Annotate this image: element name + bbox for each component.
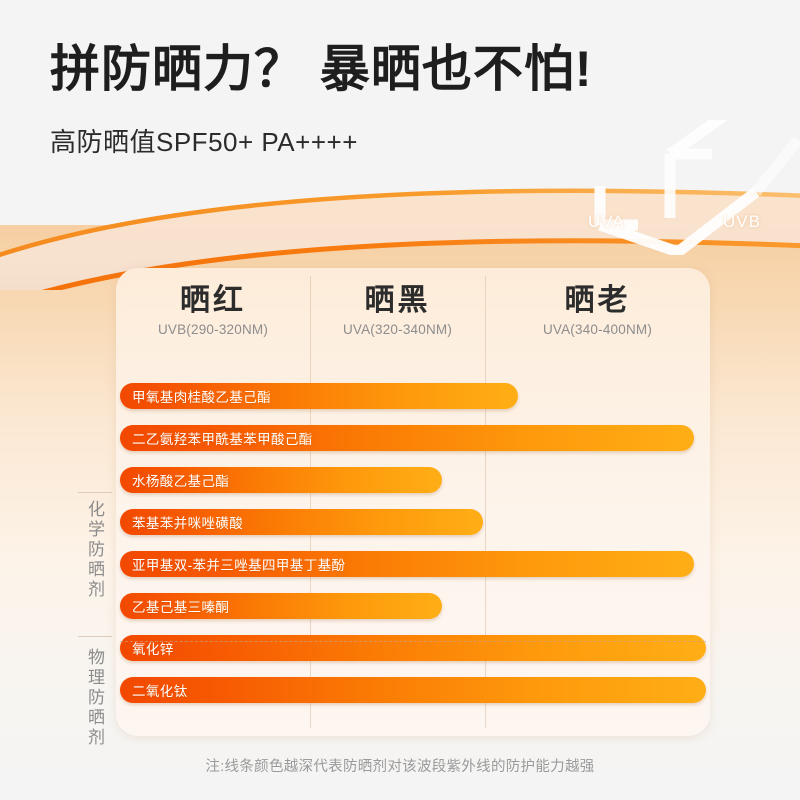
chart-footnote: 注:线条颜色越深代表防晒剂对该波段紫外线的防护能力越强	[0, 755, 800, 776]
bar-label: 二氧化钛	[120, 680, 188, 700]
bar: 二乙氨羟苯甲酰基苯甲酸己酯	[120, 425, 694, 451]
bar: 二氧化钛	[120, 677, 706, 703]
page-title: 拼防晒力？ 暴晒也不怕!	[50, 42, 593, 97]
bar-row: 苯基苯并咪唑磺酸	[120, 509, 706, 551]
side-label-physical: 物理防晒剂	[86, 648, 103, 748]
uv-protection-card: 晒红 UVB(290-320NM) 晒黑 UVA(320-340NM) 晒老 U…	[116, 268, 710, 736]
column-title: 晒老	[485, 282, 710, 320]
side-divider-middle	[78, 636, 112, 637]
column-header-shaihei: 晒黑 UVA(320-340NM)	[310, 282, 485, 337]
bar-row: 亚甲基双-苯并三唑基四甲基丁基酚	[120, 551, 706, 593]
bar-row: 二乙氨羟苯甲酰基苯甲酸己酯	[120, 425, 706, 467]
uv-arrows-icon	[560, 120, 800, 255]
page-subtitle: 高防晒值SPF50+ PA++++	[50, 122, 358, 159]
bar: 甲氧基肉桂酸乙基己酯	[120, 383, 518, 409]
group-separator	[120, 641, 706, 642]
bar-label: 二乙氨羟苯甲酰基苯甲酸己酯	[120, 428, 313, 448]
bar-row: 二氧化钛	[120, 677, 706, 719]
side-divider-top	[78, 492, 112, 493]
bar-row: 甲氧基肉桂酸乙基己酯	[120, 383, 706, 425]
column-headers: 晒红 UVB(290-320NM) 晒黑 UVA(320-340NM) 晒老 U…	[116, 268, 710, 368]
uva-label: UVA	[588, 212, 625, 232]
bar-row: 水杨酸乙基己酯	[120, 467, 706, 509]
column-subtitle: UVA(340-400NM)	[485, 322, 710, 337]
bar: 亚甲基双-苯并三唑基四甲基丁基酚	[120, 551, 694, 577]
column-header-shailao: 晒老 UVA(340-400NM)	[485, 282, 710, 337]
column-header-shaihong: 晒红 UVB(290-320NM)	[116, 282, 310, 337]
bar-label: 甲氧基肉桂酸乙基己酯	[120, 386, 271, 406]
bar: 苯基苯并咪唑磺酸	[120, 509, 483, 535]
bar: 氧化锌	[120, 635, 706, 661]
uv-ray-illustration: UVA UVB	[560, 120, 800, 255]
column-title: 晒红	[116, 282, 310, 320]
column-title: 晒黑	[310, 282, 485, 320]
bar: 水杨酸乙基己酯	[120, 467, 442, 493]
bar-label: 水杨酸乙基己酯	[120, 470, 229, 490]
bar-label: 乙基己基三嗪酮	[120, 596, 229, 616]
bar-chart: 甲氧基肉桂酸乙基己酯二乙氨羟苯甲酰基苯甲酸己酯水杨酸乙基己酯苯基苯并咪唑磺酸亚甲…	[120, 383, 706, 719]
column-subtitle: UVA(320-340NM)	[310, 322, 485, 337]
uvb-label: UVB	[723, 212, 761, 232]
bar: 乙基己基三嗪酮	[120, 593, 442, 619]
column-subtitle: UVB(290-320NM)	[116, 322, 310, 337]
side-label-chemical: 化学防晒剂	[86, 500, 103, 600]
page-stage: 拼防晒力？ 暴晒也不怕! 高防晒值SPF50+ PA++++ UVA UVB 化…	[0, 0, 800, 800]
bar-row: 乙基己基三嗪酮	[120, 593, 706, 635]
bar-label: 亚甲基双-苯并三唑基四甲基丁基酚	[120, 554, 345, 574]
bar-label: 苯基苯并咪唑磺酸	[120, 512, 243, 532]
